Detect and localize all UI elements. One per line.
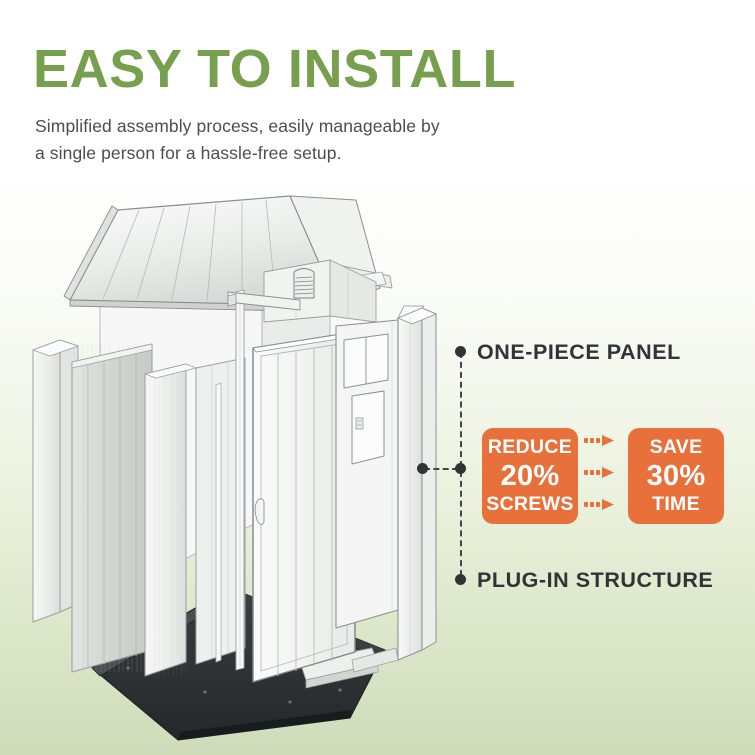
floor-base bbox=[92, 588, 385, 740]
mid-left-panel bbox=[145, 364, 196, 676]
badge-reduce-bottom-label: SCREWS bbox=[486, 495, 573, 515]
badge-save-top-label: SAVE bbox=[650, 438, 703, 458]
left-corner-trim bbox=[33, 340, 78, 622]
callout-connector-horizontal bbox=[424, 468, 458, 470]
page-title: EASY TO INSTALL bbox=[33, 41, 516, 98]
side-wall-panel bbox=[196, 358, 245, 664]
callout-dot-shed-anchor bbox=[417, 463, 428, 474]
badge-save-bottom-label: TIME bbox=[652, 495, 700, 515]
thin-rod bbox=[216, 383, 221, 662]
badge-save-value: 30% bbox=[647, 462, 706, 491]
rear-wall-panel bbox=[100, 288, 330, 602]
gable-end-panel bbox=[264, 260, 376, 322]
badge-reduce-top-label: REDUCE bbox=[488, 438, 572, 458]
infographic-page: EASY TO INSTALL Simplified assembly proc… bbox=[0, 0, 755, 755]
center-post bbox=[236, 290, 244, 670]
page-subtitle: Simplified assembly process, easily mana… bbox=[35, 113, 440, 168]
base-right-edge bbox=[352, 648, 398, 672]
arrow-group-icon bbox=[584, 432, 626, 520]
callout-dot-bottom bbox=[455, 574, 466, 585]
roof-panel bbox=[64, 196, 356, 312]
gable-vent-icon bbox=[294, 269, 314, 299]
badge-save-time: SAVE 30% TIME bbox=[628, 428, 724, 524]
callout-dot-mid bbox=[455, 463, 466, 474]
callout-label-plug-in-structure: PLUG-IN STRUCTURE bbox=[477, 568, 713, 593]
dashed-arrow-icon bbox=[584, 499, 614, 510]
badge-reduce-value: 20% bbox=[501, 462, 560, 491]
right-corner-trim bbox=[398, 306, 436, 660]
roof-bracket bbox=[228, 292, 300, 310]
dashed-arrow-icon bbox=[584, 467, 614, 478]
left-wall-panel bbox=[72, 344, 152, 672]
roof-drip-edge bbox=[330, 272, 386, 292]
roof-rear-slope bbox=[290, 196, 392, 306]
callout-label-one-piece-panel: ONE-PIECE PANEL bbox=[477, 340, 681, 365]
badge-reduce-screws: REDUCE 20% SCREWS bbox=[482, 428, 578, 524]
base-front-rail bbox=[300, 648, 378, 688]
door-panel bbox=[253, 332, 358, 682]
window-frame bbox=[336, 320, 398, 628]
callout-dot-top bbox=[455, 346, 466, 357]
dashed-arrow-icon bbox=[584, 435, 614, 446]
